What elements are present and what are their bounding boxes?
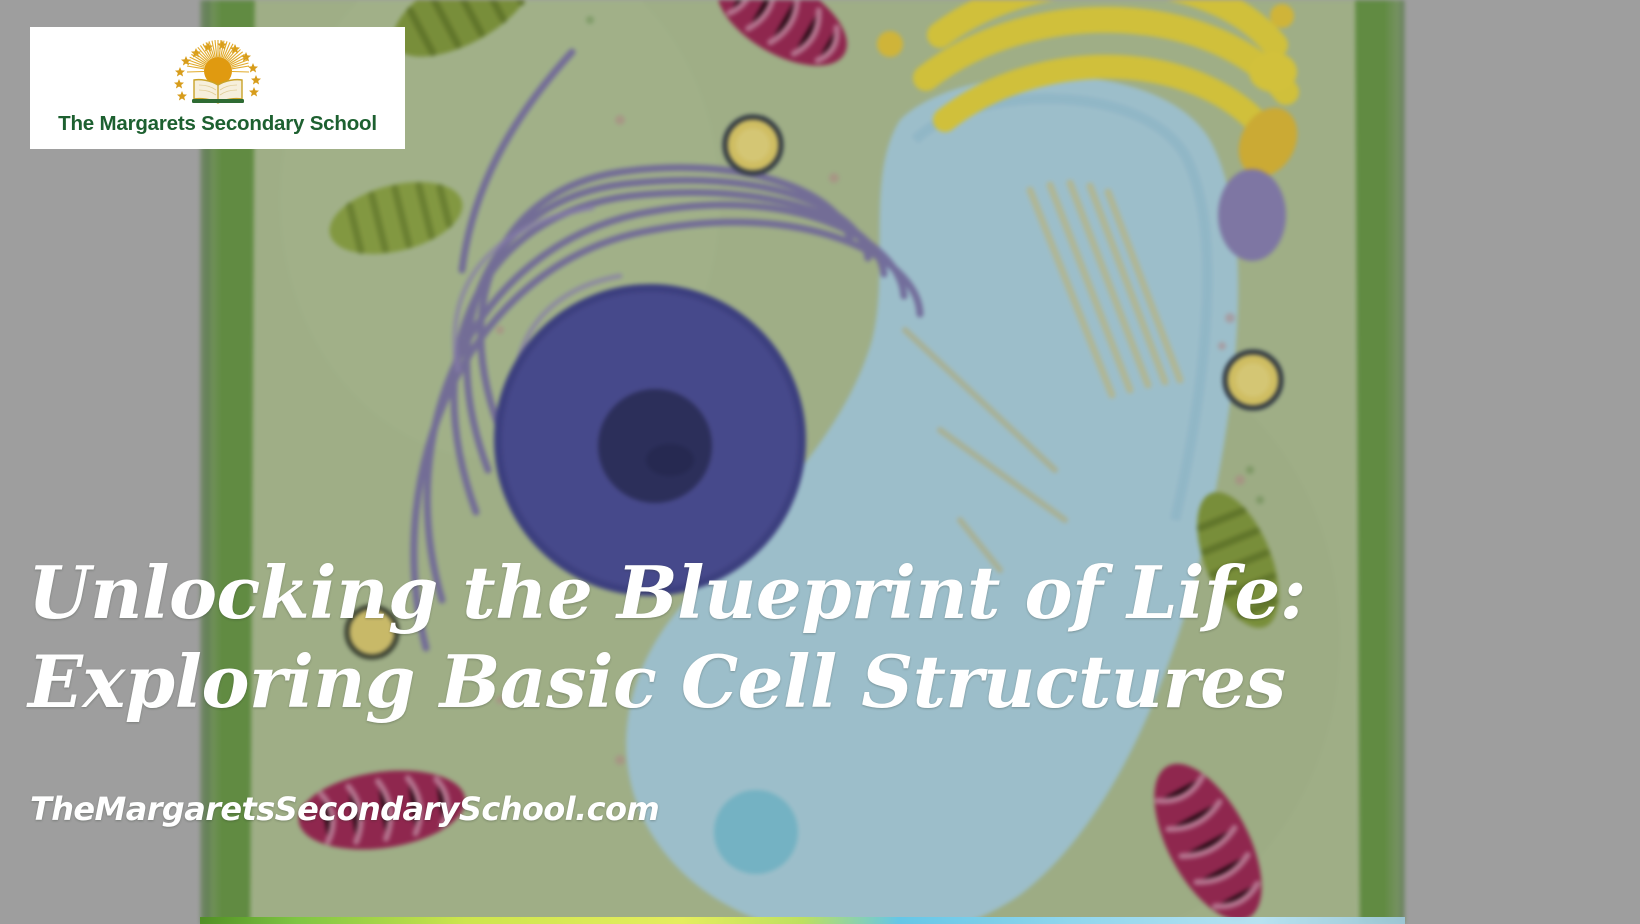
slide-title-line-2: Exploring Basic Cell Structures bbox=[28, 637, 1278, 726]
sun-book-stars-emblem bbox=[158, 33, 278, 111]
cell-bottom-rim bbox=[200, 917, 1405, 924]
school-logo-card[interactable]: The Margarets Secondary School bbox=[30, 27, 405, 149]
slide-canvas: The Margarets Secondary School Unlocking… bbox=[0, 0, 1640, 924]
slide-title-line-1: Unlocking the Blueprint of Life: bbox=[28, 548, 1278, 637]
website-url[interactable]: TheMargaretsSecondarySchool.com bbox=[30, 790, 659, 828]
school-name-text: The Margarets Secondary School bbox=[58, 112, 377, 136]
slide-title: Unlocking the Blueprint of Life: Explori… bbox=[28, 548, 1278, 727]
